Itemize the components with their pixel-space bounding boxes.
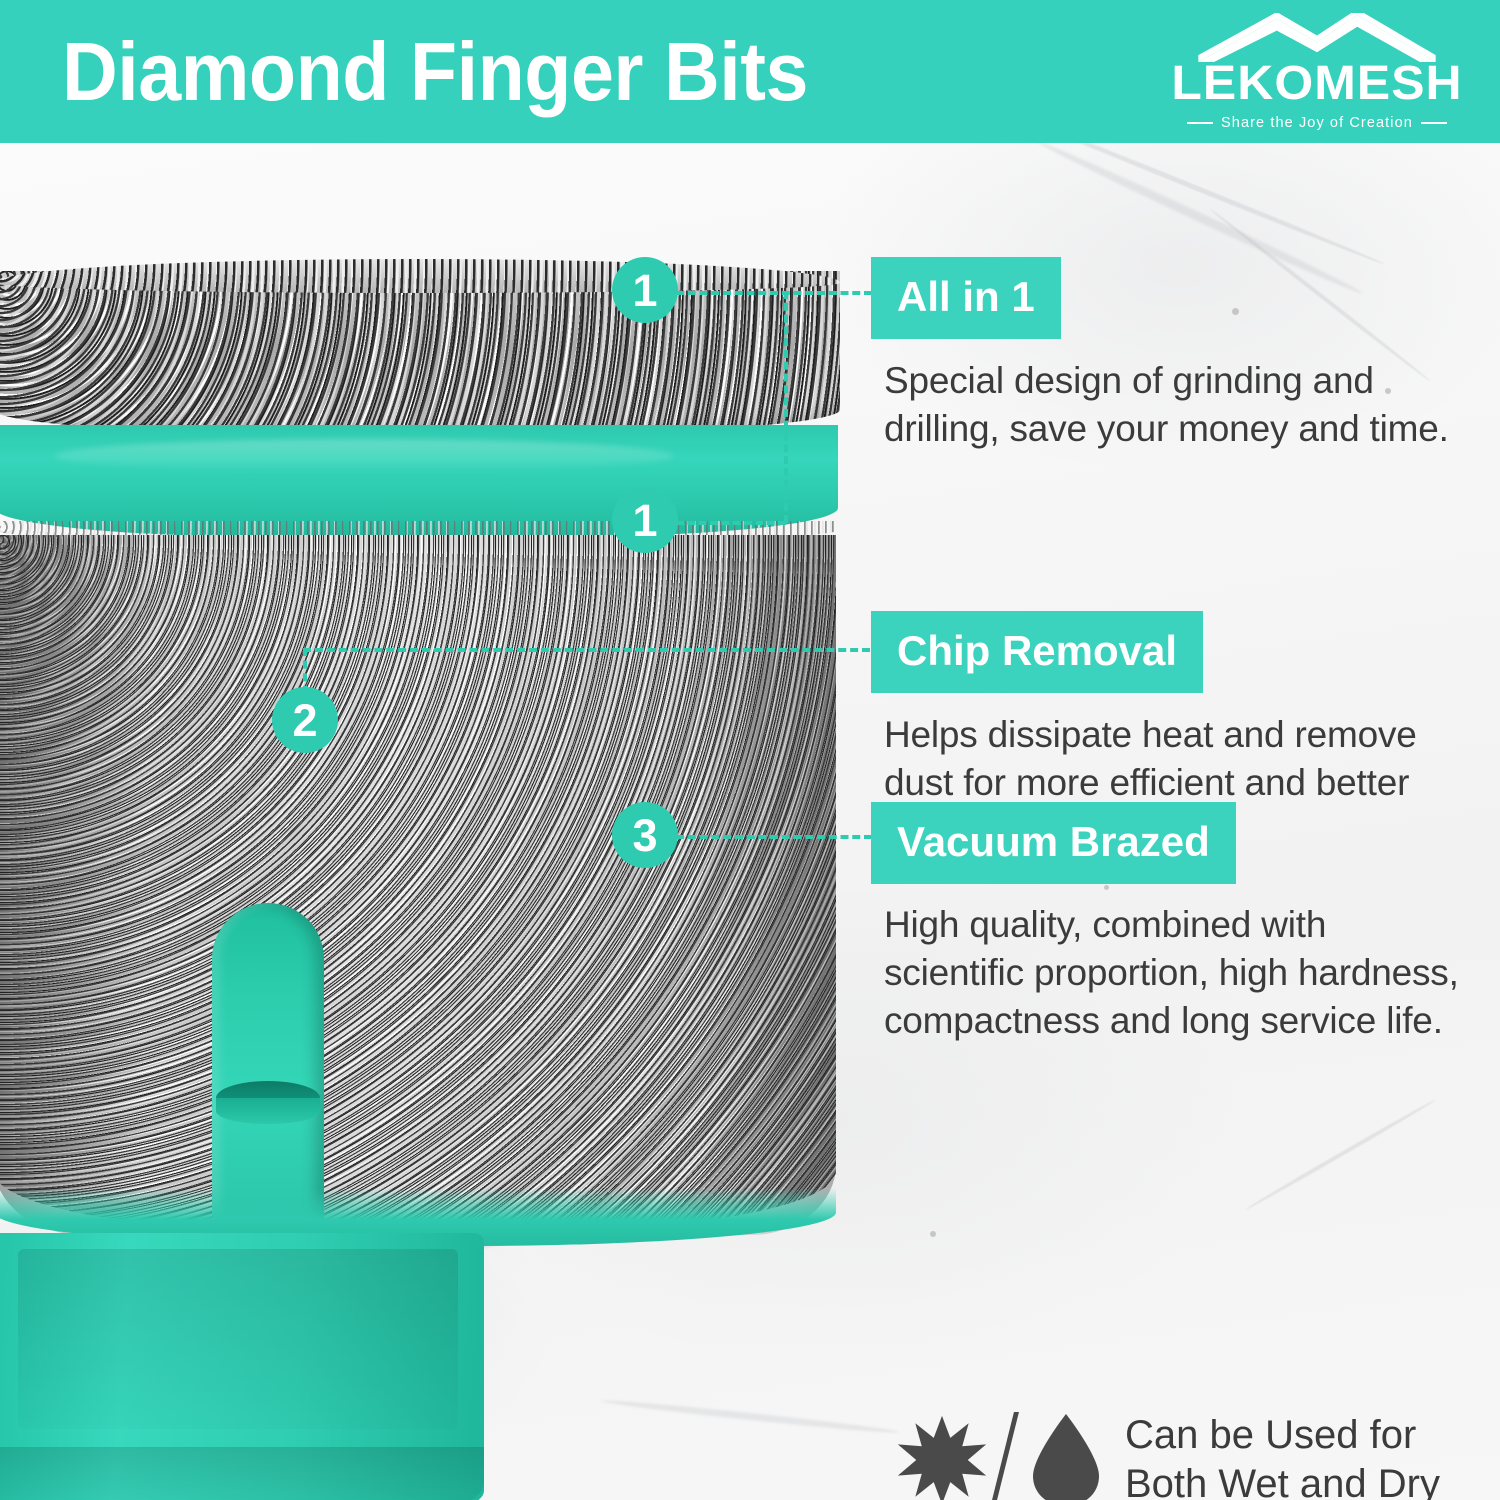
product-image-drill-bit xyxy=(0,203,854,1500)
usage-text-line-2: Both Wet and Dry xyxy=(1125,1460,1440,1500)
brand-name: LEKOMESH xyxy=(1171,60,1462,108)
marble-vein xyxy=(1035,143,1365,298)
connector-line-1-bottom xyxy=(676,521,786,525)
page-header: Diamond Finger Bits LEKOMESH Share the J… xyxy=(0,0,1500,143)
product-marker-1-bottom: 1 xyxy=(612,487,678,553)
marker-label: 1 xyxy=(632,498,657,543)
feature-badge-vacuum-brazed: Vacuum Brazed xyxy=(871,802,1236,884)
chip-removal-hole-lower xyxy=(216,1098,320,1124)
coarse-grit-crown xyxy=(0,271,840,436)
brand-tagline: Share the Joy of Creation xyxy=(1221,115,1413,131)
brand-tagline-row: Share the Joy of Creation xyxy=(1187,115,1447,131)
usage-wet-dry-row: Can be Used for Both Wet and Dry xyxy=(896,1411,1440,1500)
marble-background: 1 1 2 3 All in 1 Special design of grind… xyxy=(0,143,1500,1500)
marker-label: 2 xyxy=(292,698,317,743)
marble-vein xyxy=(994,143,1385,266)
connector-line-2 xyxy=(303,648,870,652)
marble-vein xyxy=(1244,1098,1437,1211)
page-title: Diamond Finger Bits xyxy=(62,30,808,113)
marble-speck xyxy=(1104,885,1109,890)
marker-label: 3 xyxy=(632,813,657,858)
connector-line-1-top xyxy=(676,291,872,295)
feature-description-all-in-1: Special design of grinding and drilling,… xyxy=(884,357,1464,453)
marble-speck xyxy=(1232,308,1239,315)
shank-face xyxy=(18,1249,458,1429)
connector-bracket-vertical-1 xyxy=(784,291,788,523)
feature-badge-all-in-1: All in 1 xyxy=(871,257,1061,339)
feature-description-vacuum-brazed: High quality, combined with scientific p… xyxy=(884,901,1464,1045)
sun-starburst-icon xyxy=(896,1414,988,1500)
tagline-rule-right xyxy=(1421,122,1447,124)
barrel-shading-right xyxy=(694,535,836,1235)
connector-line-3 xyxy=(676,835,872,839)
shank-shadow xyxy=(0,1447,484,1500)
feature-badge-chip-removal: Chip Removal xyxy=(871,611,1203,693)
usage-text-line-1: Can be Used for xyxy=(1125,1411,1440,1460)
marble-speck xyxy=(930,1231,936,1237)
usage-text: Can be Used for Both Wet and Dry xyxy=(1125,1411,1440,1500)
barrel-shading-left xyxy=(0,535,144,1235)
marker-label: 1 xyxy=(632,268,657,313)
crown-top-edge xyxy=(0,259,840,293)
band-sheen xyxy=(54,439,674,473)
product-marker-3: 3 xyxy=(612,802,678,868)
water-drop-icon xyxy=(1029,1412,1103,1500)
product-marker-2: 2 xyxy=(272,687,338,753)
slash-icon xyxy=(990,1412,1019,1500)
product-marker-1-top: 1 xyxy=(612,257,678,323)
brand-logo: LEKOMESH Share the Joy of Creation xyxy=(1182,13,1452,131)
tagline-rule-left xyxy=(1187,122,1213,124)
